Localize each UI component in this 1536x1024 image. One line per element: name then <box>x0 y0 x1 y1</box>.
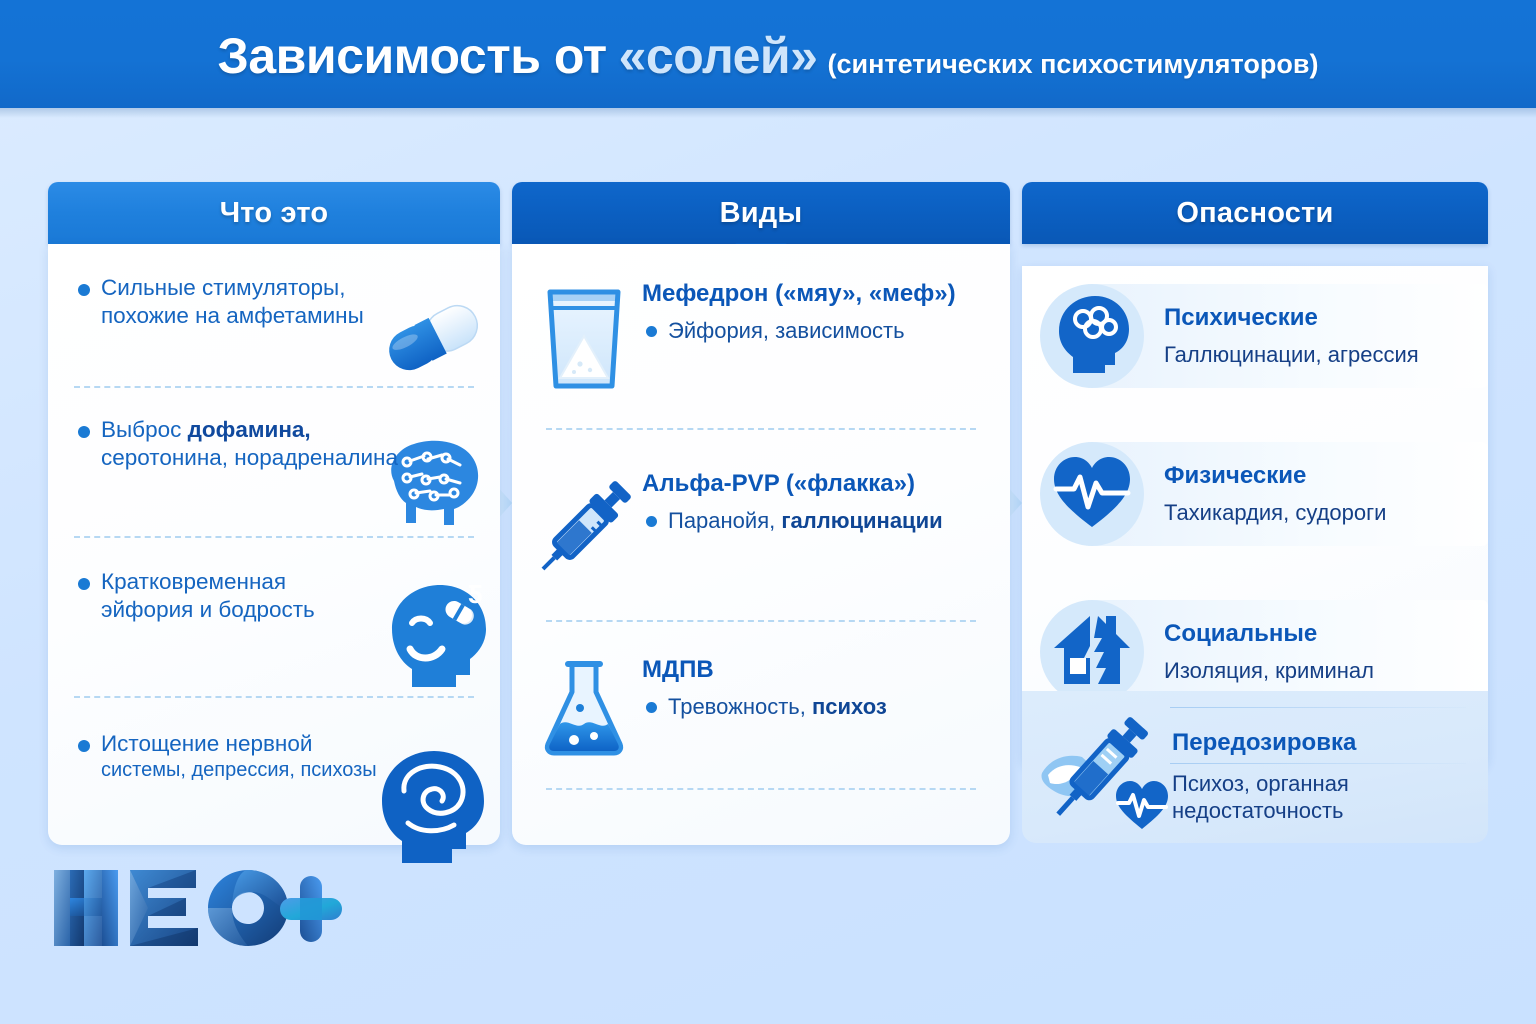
heart-pulse-icon <box>1114 779 1170 836</box>
list-item-text: Альфа-PVP («флакка») Паранойя, галлюцина… <box>636 470 992 534</box>
column-body-what-is-it: Сильные стимуляторы, похожие на амфетами… <box>48 244 500 845</box>
list-item: Истощение нервной системы, депрессия, пс… <box>48 698 500 880</box>
list-item-text: Истощение нервной системы, депрессия, пс… <box>74 730 431 783</box>
list-item: Мефедрон («мяу», «меф») Эйфория, зависим… <box>512 244 1010 428</box>
list-item-text: Сильные стимуляторы, похожие на амфетами… <box>74 274 431 330</box>
list-item-text: Мефедрон («мяу», «меф») Эйфория, зависим… <box>636 280 992 344</box>
list-item-sub-bold: психоз <box>812 694 887 719</box>
divider <box>546 788 976 790</box>
column-header-label: Что это <box>220 197 329 230</box>
flask-icon <box>532 656 636 760</box>
column-what-is-it: Что это Сильные стимуляторы, похожие на … <box>48 182 500 845</box>
broken-house-icon <box>1050 610 1134 695</box>
badge-circle <box>1040 442 1144 546</box>
page-title-quoted: «солей» <box>619 27 818 85</box>
list-item-line1: Выброс дофамина, <box>101 416 431 444</box>
svg-text:Ƽ: Ƽ <box>468 579 482 609</box>
list-item-title: Психические <box>1164 304 1419 333</box>
column-dangers: Опасности <box>1022 182 1488 769</box>
title-bar: Зависимость от «солей» (синтетических пс… <box>0 0 1536 108</box>
list-item-text: МДПВ Тревожность, психоз <box>636 656 992 720</box>
column-header-what-is-it: Что это <box>48 182 500 244</box>
overdose-sub-line1: Психоз, органная <box>1172 771 1349 798</box>
list-item: Сильные стимуляторы, похожие на амфетами… <box>48 244 500 386</box>
list-item-sub: Паранойя, галлюцинации <box>642 507 992 535</box>
overdose-sub-line2: недостаточность <box>1172 798 1349 825</box>
column-header-label: Опасности <box>1176 197 1333 230</box>
list-item-sub: Изоляция, криминал <box>1164 658 1374 684</box>
bullet-icon <box>646 326 657 337</box>
list-item-sub-pre: Паранойя, <box>668 508 781 533</box>
list-item-sub: Галлюцинации, агрессия <box>1164 342 1419 368</box>
column-header-label: Виды <box>720 197 803 230</box>
list-item-title: Физические <box>1164 462 1386 491</box>
syringe-icon <box>532 470 636 586</box>
list-item-line2: серотонина, норадреналина <box>101 444 431 472</box>
list-item: Физические Тахикардия, судороги <box>1022 424 1488 564</box>
column-header-types: Виды <box>512 182 1010 244</box>
list-item-line1: Сильные стимуляторы, <box>101 274 431 302</box>
overdose-sub: Психоз, органная недостаточность <box>1172 771 1349 825</box>
badge-circle <box>1040 600 1144 704</box>
list-item: Психические Галлюцинации, агрессия <box>1022 266 1488 406</box>
badge-circle <box>1040 284 1144 388</box>
list-item: Кратковременная эйфория и бодрость Ƽ <box>48 538 500 696</box>
list-item-title: МДПВ <box>642 656 992 685</box>
list-item-sub-bold: галлюцинации <box>781 508 942 533</box>
divider <box>1170 763 1466 764</box>
list-item-text: Физические Тахикардия, судороги <box>1164 462 1386 526</box>
overdose-panel: Передозировка Психоз, органная недостато… <box>1022 691 1488 843</box>
overdose-title: Передозировка <box>1172 729 1356 757</box>
column-types: Виды <box>512 182 1010 845</box>
list-item-sub: Тахикардия, судороги <box>1164 500 1386 526</box>
bullet-icon <box>646 702 657 713</box>
bullet-icon <box>646 516 657 527</box>
list-item-title: Альфа-PVP («флакка») <box>642 470 992 499</box>
list-item-sub-pre: Тревожность, <box>668 694 812 719</box>
list-item-title: Мефедрон («мяу», «меф») <box>642 280 992 309</box>
page-title-subtitle: (синтетических психостимуляторов) <box>827 49 1318 80</box>
list-item-line2: системы, депрессия, психозы <box>101 758 431 783</box>
head-brain-icon <box>1049 291 1135 382</box>
divider <box>1170 707 1466 708</box>
list-item-text: Выброс дофамина, серотонина, норадренали… <box>74 416 431 472</box>
list-item: Альфа-PVP («флакка») Паранойя, галлюцина… <box>512 430 1010 620</box>
infographic-page: Зависимость от «солей» (синтетических пс… <box>0 0 1536 1024</box>
list-item-sub-pre: Эйфория, зависимость <box>668 318 905 343</box>
heart-pulse-icon <box>1050 453 1134 536</box>
title-bar-shadow <box>0 108 1536 118</box>
list-item-line1: Кратковременная <box>101 568 431 596</box>
column-header-dangers: Опасности <box>1022 182 1488 244</box>
list-item-line2: похожие на амфетамины <box>101 302 431 330</box>
neo-plus-logo: НЕО+ <box>48 862 348 954</box>
list-item-line1: Истощение нервной <box>101 730 431 758</box>
list-item-text: Социальные Изоляция, криминал <box>1164 620 1374 684</box>
list-item-title: Социальные <box>1164 620 1374 649</box>
page-title-main: Зависимость от <box>218 27 607 85</box>
list-item-line2: эйфория и бодрость <box>101 596 431 624</box>
list-item-line1-bold: дофамина, <box>188 417 311 442</box>
list-item-text: Кратковременная эйфория и бодрость <box>74 568 431 624</box>
powder-bag-icon <box>532 280 636 396</box>
list-item: Выброс дофамина, серотонина, норадренали… <box>48 388 500 536</box>
list-item: МДПВ Тревожность, психоз <box>512 622 1010 788</box>
list-item-line1-pre: Выброс <box>101 417 188 442</box>
column-body-types: Мефедрон («мяу», «меф») Эйфория, зависим… <box>512 244 1010 845</box>
list-item-sub: Эйфория, зависимость <box>642 317 992 345</box>
list-item-sub: Тревожность, психоз <box>642 693 992 721</box>
list-item-text: Психические Галлюцинации, агрессия <box>1164 304 1419 368</box>
